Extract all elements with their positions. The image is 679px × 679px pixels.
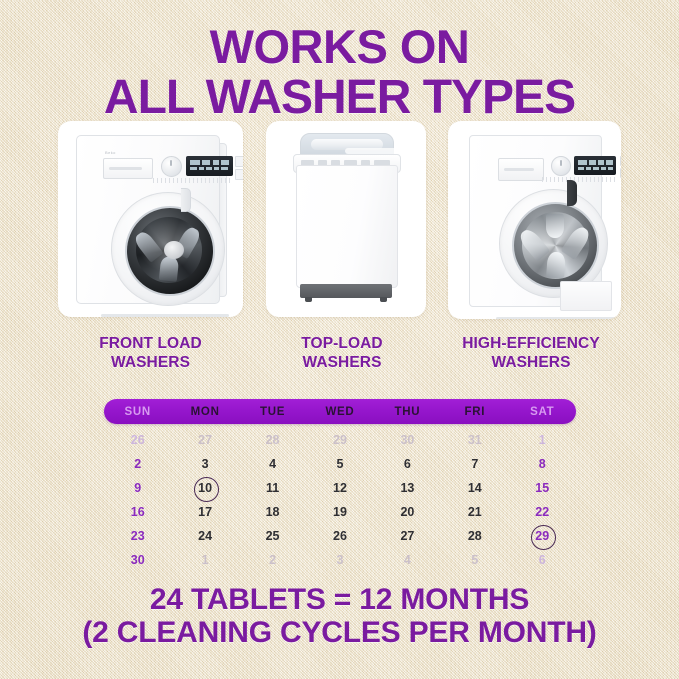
calendar-day-number: 29 — [333, 433, 347, 447]
calendar-day-cell[interactable]: 6 — [374, 457, 441, 471]
calendar-day-number: 4 — [404, 553, 411, 567]
program-dial-icon — [551, 156, 571, 176]
calendar-day-cell[interactable]: 1 — [509, 433, 576, 447]
calendar-weekday-wed: WED — [306, 406, 373, 418]
display-panel-icon — [186, 156, 233, 176]
calendar-day-number: 26 — [131, 433, 145, 447]
calendar-day-number: 28 — [468, 529, 482, 543]
calendar-day-cell[interactable]: 17 — [171, 505, 238, 519]
calendar-day-cell[interactable]: 23 — [104, 529, 171, 543]
door-glass — [512, 202, 599, 289]
calendar-day-number: 3 — [337, 553, 344, 567]
drum-interior — [136, 217, 202, 283]
calendar-day-cell[interactable]: 4 — [239, 457, 306, 471]
caption-line-2: WASHERS — [441, 353, 621, 372]
calendar-day-cell[interactable]: 25 — [239, 529, 306, 543]
calendar-day-number: 6 — [404, 457, 411, 471]
calendar-day-number: 13 — [400, 481, 414, 495]
calendar-day-cell[interactable]: 2 — [104, 457, 171, 471]
calendar-day-number: 18 — [266, 505, 280, 519]
calendar-week-row: 23242526272829 — [104, 524, 576, 548]
calendar-day-cell[interactable]: 2 — [239, 553, 306, 567]
calendar-day-number: 12 — [333, 481, 347, 495]
front-load-washer-body: Beko — [76, 135, 220, 304]
high-efficiency-washer-body — [469, 135, 602, 307]
calendar-day-cell[interactable]: 18 — [239, 505, 306, 519]
calendar-day-number: 5 — [337, 457, 344, 471]
calendar-day-cell[interactable]: 12 — [306, 481, 373, 495]
caption-line-1: TOP-LOAD — [262, 334, 422, 353]
calendar-day-cell[interactable]: 26 — [306, 529, 373, 543]
brand-mark: Beko — [105, 150, 116, 155]
calendar-day-number: 4 — [269, 457, 276, 471]
washer-base — [101, 314, 229, 317]
washer-card-high-efficiency — [448, 121, 621, 319]
calendar-day-number: 22 — [535, 505, 549, 519]
calendar-day-number: 24 — [198, 529, 212, 543]
calendar-day-number: 3 — [202, 457, 209, 471]
filter-access-hatch — [560, 281, 612, 311]
calendar-day-grid: 2627282930311234567891011121314151617181… — [104, 428, 576, 572]
calendar-day-cell[interactable]: 4 — [374, 553, 441, 567]
calendar-day-cell[interactable]: 26 — [104, 433, 171, 447]
calendar-day-number: 6 — [539, 553, 546, 567]
calendar-day-number: 7 — [471, 457, 478, 471]
calendar-day-cell[interactable]: 22 — [509, 505, 576, 519]
top-load-base-plinth — [300, 284, 392, 298]
calendar-day-cell[interactable]: 29 — [306, 433, 373, 447]
calendar-day-cell[interactable]: 30 — [104, 553, 171, 567]
calendar-day-cell[interactable]: 29 — [509, 529, 576, 543]
calendar-day-number: 21 — [468, 505, 482, 519]
calendar-day-cell[interactable]: 27 — [374, 529, 441, 543]
calendar-weekday-tue: TUE — [239, 406, 306, 418]
headline-line-1: WORKS ON — [210, 20, 470, 73]
control-buttons-icon — [620, 156, 621, 176]
calendar-day-cell[interactable]: 7 — [441, 457, 508, 471]
calendar-weekday-mon: MON — [171, 406, 238, 418]
caption-line-2: WASHERS — [262, 353, 422, 372]
detergent-drawer-icon — [103, 158, 153, 179]
calendar-day-cell[interactable]: 16 — [104, 505, 171, 519]
calendar-day-number: 9 — [134, 481, 141, 495]
calendar-day-cell[interactable]: 14 — [441, 481, 508, 495]
caption-line-1: FRONT LOAD — [58, 334, 243, 353]
headline-line-2: ALL WASHER TYPES — [0, 72, 679, 123]
calendar-day-number: 31 — [468, 433, 482, 447]
drum-interior — [522, 212, 589, 279]
calendar-day-cell[interactable]: 28 — [239, 433, 306, 447]
calendar-day-number: 11 — [266, 481, 279, 495]
caption-high-efficiency: HIGH-EFFICIENCY WASHERS — [441, 334, 621, 372]
calendar-day-number: 23 — [131, 529, 145, 543]
calendar-day-cell[interactable]: 28 — [441, 529, 508, 543]
washer-caption-row: FRONT LOAD WASHERS TOP-LOAD WASHERS HIGH… — [58, 334, 621, 372]
calendar-weekday-header: SUNMONTUEWEDTHUFRISAT — [104, 399, 576, 424]
calendar-day-cell[interactable]: 1 — [171, 553, 238, 567]
dial-tick-marks — [542, 177, 618, 182]
washer-card-row: Beko — [58, 121, 621, 321]
calendar-week-row: 9101112131415 — [104, 476, 576, 500]
calendar-day-cell[interactable]: 30 — [374, 433, 441, 447]
calendar-day-number: 26 — [333, 529, 347, 543]
calendar-day-number: 1 — [539, 433, 546, 447]
calendar-day-number: 2 — [269, 553, 276, 567]
calendar-week-row: 2345678 — [104, 452, 576, 476]
calendar-day-cell[interactable]: 9 — [104, 481, 171, 495]
calendar-day-cell[interactable]: 3 — [171, 457, 238, 471]
calendar-day-cell[interactable]: 5 — [306, 457, 373, 471]
calendar-day-cell[interactable]: 6 — [509, 553, 576, 567]
calendar-day-number: 5 — [471, 553, 478, 567]
calendar-week-row: 2627282930311 — [104, 428, 576, 452]
calendar-day-cell[interactable]: 10 — [171, 481, 238, 495]
calendar-day-cell[interactable]: 3 — [306, 553, 373, 567]
calendar-day-number: 30 — [400, 433, 414, 447]
calendar-day-number: 2 — [134, 457, 141, 471]
calendar-day-cell[interactable]: 24 — [171, 529, 238, 543]
calendar-day-cell[interactable]: 15 — [509, 481, 576, 495]
calendar-day-cell[interactable]: 20 — [374, 505, 441, 519]
footer-line-2: (2 CLEANING CYCLES PER MONTH) — [0, 616, 679, 649]
calendar-day-number: 16 — [131, 505, 145, 519]
drum-highlight — [164, 241, 184, 259]
calendar-day-number: 27 — [400, 529, 414, 543]
caption-line-1: HIGH-EFFICIENCY — [441, 334, 621, 353]
calendar-day-number: 14 — [468, 481, 482, 495]
calendar-weekday-sat: SAT — [509, 406, 576, 418]
calendar-day-cell[interactable]: 11 — [239, 481, 306, 495]
calendar-week-row: 16171819202122 — [104, 500, 576, 524]
caption-front-load: FRONT LOAD WASHERS — [58, 334, 243, 372]
calendar-day-number: 17 — [198, 505, 212, 519]
footer-line-1: 24 TABLETS = 12 MONTHS — [0, 583, 679, 616]
calendar-day-cell[interactable]: 31 — [441, 433, 508, 447]
calendar-day-cell[interactable]: 21 — [441, 505, 508, 519]
calendar-day-number: 28 — [266, 433, 280, 447]
washer-card-front-load: Beko — [58, 121, 243, 317]
calendar-day-number: 10 — [198, 481, 212, 495]
door-glass — [125, 206, 215, 296]
page-title: WORKS ON ALL WASHER TYPES — [0, 21, 679, 123]
door-latch-icon — [567, 180, 577, 206]
calendar-day-number: 19 — [333, 505, 347, 519]
washer-card-top-load — [266, 121, 426, 317]
calendar-day-number: 27 — [198, 433, 212, 447]
calendar-day-cell[interactable]: 5 — [441, 553, 508, 567]
caption-top-load: TOP-LOAD WASHERS — [262, 334, 422, 372]
control-buttons-icon — [235, 156, 243, 177]
calendar-weekday-thu: THU — [374, 406, 441, 418]
calendar-day-number: 20 — [400, 505, 414, 519]
calendar-day-number: 1 — [202, 553, 209, 567]
calendar-day-cell[interactable]: 19 — [306, 505, 373, 519]
door-latch-icon — [181, 188, 191, 212]
calendar-day-number: 25 — [266, 529, 280, 543]
program-dial-icon — [161, 156, 182, 177]
display-panel-icon — [574, 156, 616, 175]
detergent-drawer-icon — [498, 158, 544, 181]
dial-tick-marks — [153, 178, 233, 183]
washer-door — [111, 192, 225, 306]
top-load-washer-body — [296, 165, 398, 288]
calendar: SUNMONTUEWEDTHUFRISAT 262728293031123456… — [104, 399, 576, 572]
caption-line-2: WASHERS — [58, 353, 243, 372]
calendar-day-number: 29 — [535, 529, 549, 543]
calendar-day-cell[interactable]: 27 — [171, 433, 238, 447]
calendar-weekday-fri: FRI — [441, 406, 508, 418]
calendar-day-number: 8 — [539, 457, 546, 471]
calendar-day-number: 30 — [131, 553, 145, 567]
calendar-day-cell[interactable]: 13 — [374, 481, 441, 495]
calendar-day-cell[interactable]: 8 — [509, 457, 576, 471]
calendar-day-number: 15 — [535, 481, 549, 495]
calendar-week-row: 30123456 — [104, 548, 576, 572]
washer-base — [496, 317, 616, 319]
footer-text: 24 TABLETS = 12 MONTHS (2 CLEANING CYCLE… — [0, 583, 679, 649]
calendar-weekday-sun: SUN — [104, 406, 171, 418]
